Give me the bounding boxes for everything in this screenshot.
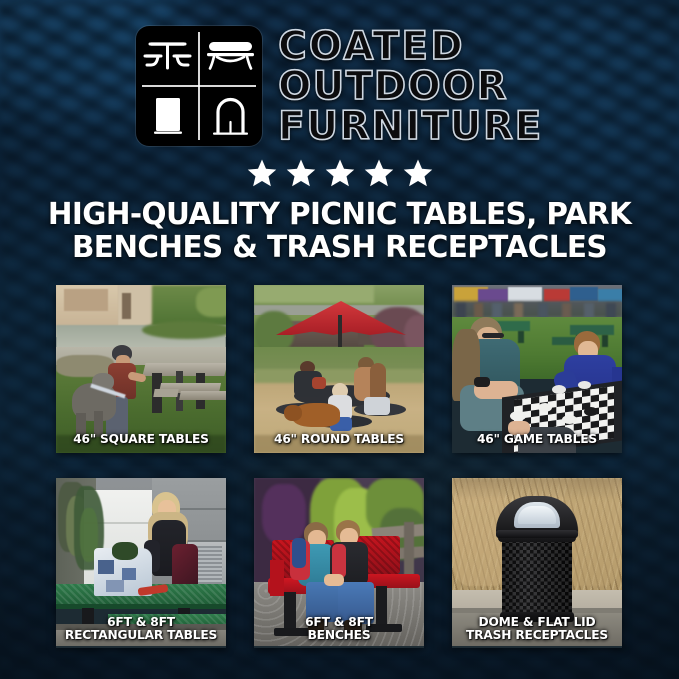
star-icon (325, 158, 355, 188)
logo-line-2: OUTDOOR (278, 68, 508, 106)
product-tile-game-tables[interactable]: 46" GAME TABLES (452, 285, 622, 453)
caption-line-2: BENCHES (308, 627, 371, 642)
tile-caption: 6FT & 8FT RECTANGULAR TABLES (60, 615, 221, 642)
star-icon (364, 158, 394, 188)
tile-caption: 6FT & 8FT BENCHES (258, 615, 419, 642)
product-tile-rectangular-tables[interactable]: 6FT & 8FT RECTANGULAR TABLES (56, 478, 226, 648)
star-icon (403, 158, 433, 188)
headline-line-2: BENCHES & TRASH RECEPTACLES (41, 232, 638, 265)
caption-line-1: 46" GAME TABLES (477, 431, 597, 446)
picnic-table-icon (136, 26, 199, 86)
star-icon (286, 158, 316, 188)
product-grid: 46" SQUARE TABLES (56, 285, 623, 648)
logo-line-3: FURNITURE (278, 108, 543, 146)
star-rating (0, 158, 679, 188)
caption-line-2: TRASH RECEPTACLES (466, 627, 608, 642)
caption-line-1: 46" ROUND TABLES (274, 431, 404, 446)
star-icon (247, 158, 277, 188)
bike-rack-arch-icon (199, 86, 262, 146)
headline-line-1: HIGH-QUALITY PICNIC TABLES, PARK (48, 197, 631, 232)
product-tile-trash-receptacles[interactable]: DOME & FLAT LID TRASH RECEPTACLES (452, 478, 622, 648)
tile-caption: 46" GAME TABLES (456, 432, 617, 446)
bench-icon (199, 26, 262, 86)
trash-receptacle-icon (136, 86, 199, 146)
product-tile-square-tables[interactable]: 46" SQUARE TABLES (56, 285, 226, 453)
product-tile-round-tables[interactable]: 46" ROUND TABLES (254, 285, 424, 453)
game-tables-photo (452, 285, 622, 453)
brand-logo: COATED OUTDOOR FURNITURE (0, 26, 679, 149)
tile-caption: DOME & FLAT LID TRASH RECEPTACLES (456, 615, 617, 642)
page-title: HIGH-QUALITY PICNIC TABLES, PARK BENCHES… (41, 199, 638, 264)
round-tables-photo (254, 285, 424, 453)
tile-caption: 46" SQUARE TABLES (60, 432, 221, 446)
logo-line-1: COATED (278, 28, 465, 66)
caption-line-1: 46" SQUARE TABLES (73, 431, 209, 446)
promo-banner: COATED OUTDOOR FURNITURE HIGH-QUALITY PI… (0, 0, 679, 679)
logo-mark (136, 26, 262, 146)
caption-line-2: RECTANGULAR TABLES (65, 627, 217, 642)
tile-caption: 46" ROUND TABLES (258, 432, 419, 446)
logo-divider-horizontal (142, 85, 256, 87)
product-tile-benches[interactable]: 6FT & 8FT BENCHES (254, 478, 424, 648)
logo-wordmark: COATED OUTDOOR FURNITURE (278, 26, 543, 149)
square-tables-photo (56, 285, 226, 453)
